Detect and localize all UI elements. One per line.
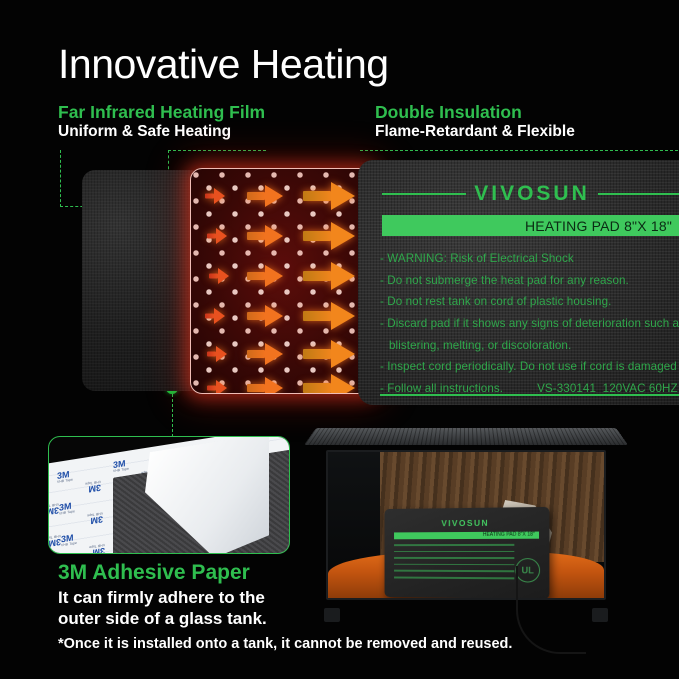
far-infrared-heating-film [190, 168, 376, 394]
warning-item: - WARNING: Risk of Electrical Shock [380, 248, 679, 270]
heat-arrow-row [191, 301, 375, 331]
3m-logo: 3MVHB Tape [113, 459, 129, 474]
heat-arrow-row [191, 373, 375, 394]
brand-rule-right [598, 193, 679, 195]
heating-pad-with-label: VIVOSUN HEATING PAD 8"X 18" - WARNING: R… [358, 160, 679, 405]
3m-logo-inverted: 3MVHB Tape [48, 533, 61, 548]
label-bottom-rule [380, 394, 679, 396]
footnote-text: *Once it is installed onto a tank, it ca… [58, 636, 512, 652]
heat-arrow-row [191, 261, 375, 291]
terrarium-tank-photo: VIVOSUN HEATING PAD 8"X 18" UL [310, 428, 640, 626]
3m-logo-inverted: 3MVHB Tape [89, 542, 105, 554]
connector-line-adhesive-vertical [172, 389, 173, 437]
heating-pad-base-layer [82, 170, 204, 391]
warning-item: - Do not submerge the heat pad for any r… [380, 270, 679, 292]
callout-subheading-double-insulation: Flame-Retardant & Flexible [375, 123, 575, 141]
model-bar: HEATING PAD 8"X 18" [382, 215, 679, 236]
3m-logo-inverted: 3MVHB Tape [87, 511, 103, 526]
tank-foot [592, 608, 608, 622]
connector-line-left-vertical [60, 150, 61, 207]
3m-logo-inverted: 3MVHB Tape [85, 479, 101, 494]
connector-line-top-horizontal [168, 150, 266, 151]
3m-logo: 3MVHB Tape [59, 501, 75, 516]
heat-arrow-row [191, 181, 375, 211]
page-title: Innovative Heating [58, 44, 389, 85]
heat-arrow-row [191, 221, 375, 251]
3m-logo-inverted: 3MVHB Tape [48, 502, 59, 517]
brand-row: VIVOSUN [358, 182, 679, 206]
warning-item: blistering, melting, or discoloration. [380, 335, 679, 357]
heat-arrow-row [191, 339, 375, 369]
tank-foot [324, 608, 340, 622]
adhesive-section-title: 3M Adhesive Paper [58, 562, 250, 583]
infographic-canvas: Innovative Heating Far Infrared Heating … [0, 0, 679, 679]
3m-logo: 3MVHB Tape [57, 469, 73, 484]
connector-line-right-horizontal [360, 150, 678, 151]
warning-item: - Inspect cord periodically. Do not use … [380, 356, 679, 378]
tank-screen-lid [304, 428, 628, 445]
warning-item-footer: - Follow all instructions.VS-330141 120V… [380, 378, 679, 400]
installed-pad-text-lines [394, 544, 514, 584]
model-bar-text: HEATING PAD 8"X 18" [525, 218, 672, 234]
adhesive-paper-image: 3MVHB Tape 3MVHB Tape 3MVHB Tape 3MVHB T… [48, 436, 290, 554]
vivosun-logo: VIVOSUN [474, 182, 590, 206]
warning-item: - Do not rest tank on cord of plastic ho… [380, 291, 679, 313]
power-cord [516, 566, 586, 654]
callout-heading-double-insulation: Double Insulation [375, 102, 522, 122]
adhesive-section-description: It can firmly adhere to the outer side o… [58, 588, 308, 629]
brand-rule-left [382, 193, 466, 195]
callout-heading-far-infrared: Far Infrared Heating Film [58, 102, 265, 122]
callout-subheading-far-infrared: Uniform & Safe Heating [58, 123, 231, 141]
warning-list: - WARNING: Risk of Electrical Shock - Do… [380, 248, 679, 400]
warning-item: - Discard pad if it shows any signs of d… [380, 313, 679, 335]
3m-logo: 3MVHB Tape [61, 533, 77, 548]
installed-pad-model-bar: HEATING PAD 8"X 18" [394, 532, 539, 540]
installed-pad-brand: VIVOSUN [392, 517, 541, 528]
